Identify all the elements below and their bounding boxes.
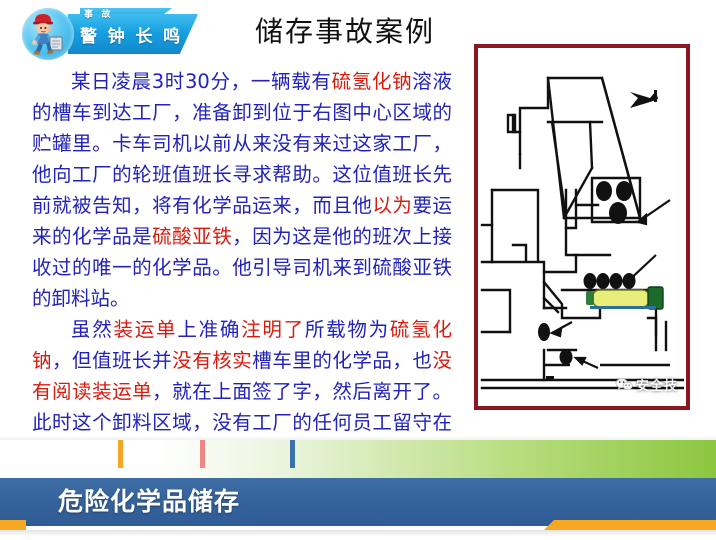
tanker-truck-icon xyxy=(586,287,663,309)
plant-layout-diagram: 安全技 xyxy=(474,44,690,410)
stripe-orange xyxy=(118,440,123,468)
airplane-icon xyxy=(630,90,658,108)
watermark: 安全技 xyxy=(615,375,678,394)
plant-layout-drawing xyxy=(480,50,684,404)
case-paragraph-1: 某日凌晨3时30分，一辆载有硫氢化钠溶液的槽车到达工厂，准备卸到位于右图中心区域… xyxy=(32,66,452,314)
footer-section-title: 危险化学品储存 xyxy=(58,478,240,526)
page-title: 储存事故案例 xyxy=(255,12,495,52)
diagram-canvas: 安全技 xyxy=(480,50,684,404)
paragraph-2-runs-run-6: ，但值班长并 xyxy=(52,349,172,372)
watermark-text: 安全技 xyxy=(636,375,678,394)
paragraph-2-runs-run-4: 所载物为 xyxy=(305,318,390,341)
stripe-blue xyxy=(290,440,295,468)
paragraph-1-runs: 某日凌晨3时30分，一辆载有硫氢化钠溶液的槽车到达工厂，准备卸到位于右图中心区域… xyxy=(32,70,452,310)
slide-root: 事 故 警 钟 长 鸣 xyxy=(0,0,716,540)
paragraph-1-runs-run-3: 以为 xyxy=(372,194,412,217)
paragraph-1-runs-run-0: 某日凌晨3时30分，一辆载有 xyxy=(71,70,332,93)
paragraph-2-runs-run-0: 虽然 xyxy=(71,318,114,341)
logo-small-label: 事 故 xyxy=(84,7,164,21)
footer-gold-left xyxy=(0,520,26,530)
safety-worker-icon xyxy=(22,8,74,60)
footer-gold-right xyxy=(544,520,716,530)
wechat-icon xyxy=(615,377,633,392)
paragraph-2-runs-run-3: 注明了 xyxy=(241,318,305,341)
stripe-pink xyxy=(200,440,205,468)
green-gradient-band xyxy=(0,440,716,478)
accident-alert-logo: 事 故 警 钟 长 鸣 xyxy=(22,8,198,60)
paragraph-2-runs-run-1: 装运单 xyxy=(114,318,178,341)
footer-bottom-edge xyxy=(0,530,716,535)
paragraph-2-runs-run-7: 没有核实 xyxy=(172,349,252,372)
logo-main-label: 警 钟 长 鸣 xyxy=(80,22,200,52)
paragraph-1-runs-run-5: 硫酸亚铁 xyxy=(152,225,232,248)
case-body-text: 某日凌晨3时30分，一辆载有硫氢化钠溶液的槽车到达工厂，准备卸到位于右图中心区域… xyxy=(32,66,452,469)
paragraph-2-runs-run-2: 上准确 xyxy=(177,318,241,341)
paragraph-2-runs-run-8: 槽车里的化学品，也 xyxy=(252,349,432,372)
paragraph-1-runs-run-1: 硫氢化钠 xyxy=(332,70,413,93)
